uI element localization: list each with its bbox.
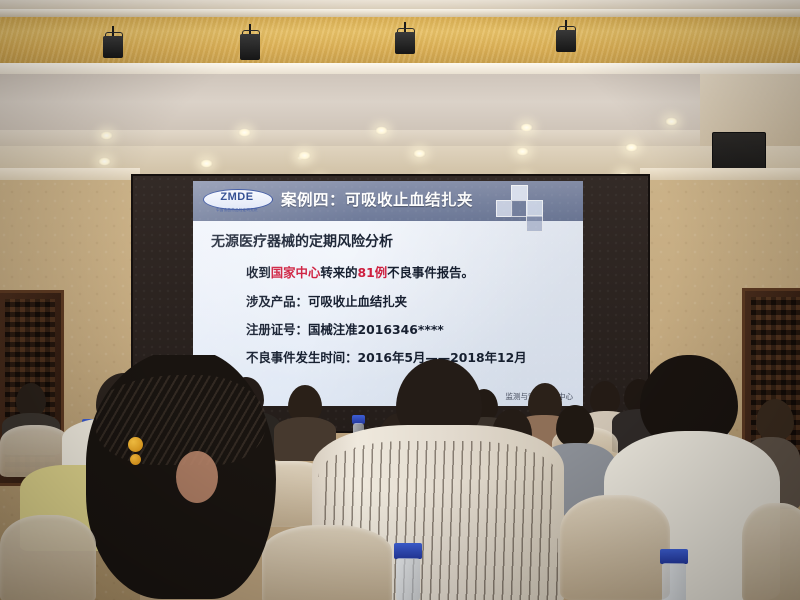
downlight-icon	[516, 147, 529, 156]
chair-back	[0, 515, 96, 600]
bullet1-highlight-count: 81例	[358, 265, 388, 280]
logo-subtext: 中国食品药品检定研究院	[203, 207, 271, 212]
slide-bullet-3: 注册证号：国械注准2016346****	[246, 320, 444, 338]
ceiling-spotlight-icon	[240, 24, 260, 58]
audience-area	[0, 355, 800, 600]
bullet1-post: 不良事件报告。	[387, 265, 474, 280]
hair-bead-icon	[130, 454, 141, 465]
chair-back	[742, 503, 800, 600]
braid-texture	[96, 375, 266, 465]
bullet1-mid: 转来的	[320, 265, 357, 280]
slide-bullet-2: 涉及产品：可吸收止血结扎夹	[246, 292, 407, 310]
downlight-icon	[100, 131, 113, 140]
downlight-icon	[98, 157, 111, 166]
slide-bullet-1: 收到国家中心转来的81例不良事件报告。	[246, 263, 474, 281]
downlight-icon	[665, 117, 678, 126]
chair-back	[262, 525, 392, 600]
zmde-logo-icon: ZMDE 中国食品药品检定研究院	[203, 189, 271, 213]
slide-title: 案例四：可吸收止血结扎夹	[281, 188, 473, 210]
water-bottle[interactable]	[660, 549, 688, 600]
ceiling-spotlight-icon	[556, 20, 576, 50]
conference-room-photo: ZMDE 中国食品药品检定研究院 案例四：可吸收止血结扎夹 无源医疗器械的定期风…	[0, 0, 800, 600]
hair-bead-icon	[128, 437, 143, 452]
slide-section-heading: 无源医疗器械的定期风险分析	[211, 231, 393, 251]
downlight-icon	[200, 159, 213, 168]
ceiling-spotlight-icon	[103, 26, 123, 56]
downlight-icon	[520, 123, 533, 132]
downlight-icon	[413, 149, 426, 158]
downlight-icon	[625, 143, 638, 152]
downlight-icon	[297, 156, 303, 160]
slide-header-band: ZMDE 中国食品药品检定研究院 案例四：可吸收止血结扎夹	[193, 181, 583, 221]
chair-back	[560, 495, 670, 600]
ear	[176, 451, 218, 503]
bullet1-highlight-center: 国家中心	[271, 265, 321, 280]
bullet1-pre: 收到	[246, 265, 271, 280]
logo-text: ZMDE	[203, 191, 271, 203]
downlight-icon	[375, 126, 388, 135]
ceiling-spotlight-icon	[395, 22, 415, 52]
downlight-icon	[238, 128, 251, 137]
water-bottle[interactable]	[394, 543, 422, 600]
ceiling-soffit	[0, 74, 706, 136]
